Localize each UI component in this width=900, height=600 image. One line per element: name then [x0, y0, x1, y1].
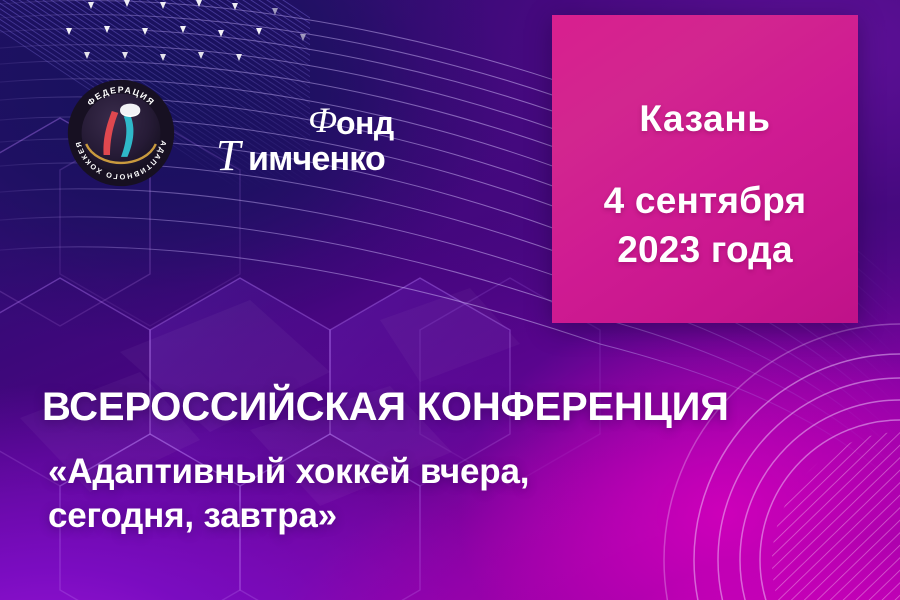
- event-day-month: 4 сентября: [604, 177, 807, 225]
- event-year: 2023 года: [617, 226, 793, 274]
- subtitle-line-2: сегодня, завтра»: [48, 494, 768, 538]
- event-city: Казань: [639, 100, 770, 137]
- federation-emblem: ФЕДЕРАЦИЯ АДАПТИВНОГО ХОККЕЯ: [66, 78, 176, 188]
- svg-text:Т: Т: [216, 131, 244, 178]
- timchenko-foundation-logo: Ф онд Т имченко: [212, 96, 432, 178]
- subtitle-line-1: «Адаптивный хоккей вчера,: [48, 450, 768, 494]
- date-card: Казань 4 сентября 2023 года: [552, 15, 858, 323]
- svg-text:Ф: Ф: [308, 100, 337, 140]
- conference-poster: ФЕДЕРАЦИЯ АДАПТИВНОГО ХОККЕЯ Ф онд Т имч…: [0, 0, 900, 600]
- headline-block: ВСЕРОССИЙСКАЯ КОНФЕРЕНЦИЯ «Адаптивный хо…: [42, 386, 872, 539]
- svg-text:имченко: имченко: [248, 140, 385, 178]
- conference-title: ВСЕРОССИЙСКАЯ КОНФЕРЕНЦИЯ: [42, 386, 872, 428]
- conference-subtitle: «Адаптивный хоккей вчера, сегодня, завтр…: [42, 450, 768, 538]
- svg-text:онд: онд: [336, 105, 394, 141]
- foundation-word-top: Ф онд: [308, 100, 394, 141]
